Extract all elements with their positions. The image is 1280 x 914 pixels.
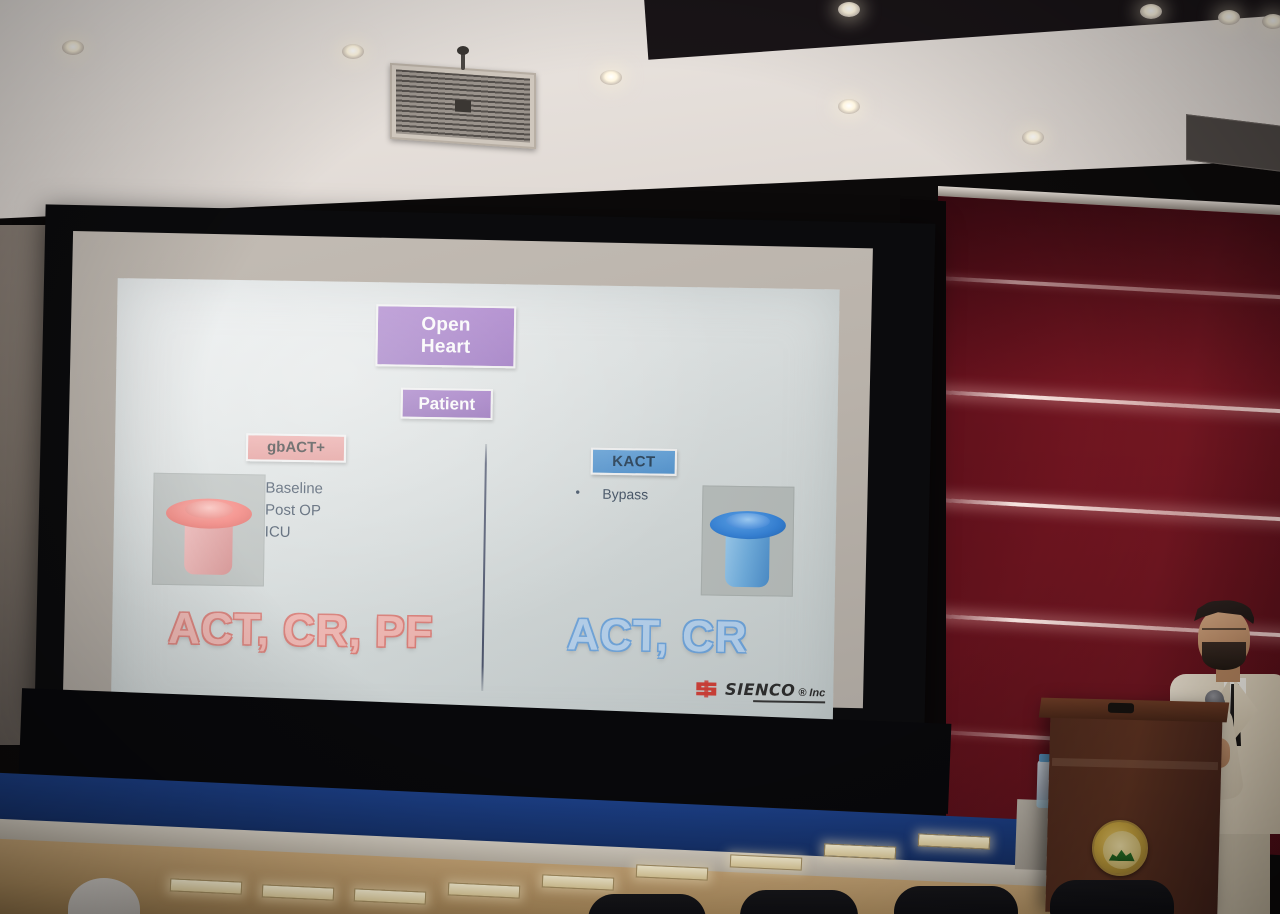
podium-emblem-inner: [1102, 831, 1141, 870]
sienco-registered-mark: ®: [798, 687, 806, 699]
column-divider: [481, 444, 487, 691]
projection-screen-frame: Open Heart Patient gbACT+ Baseline Post …: [35, 204, 936, 733]
cuvette-body-blue: [725, 531, 770, 588]
kact-result-label: ACT, CR: [567, 610, 748, 663]
ceiling-downlight: [838, 99, 860, 114]
patient-box: Patient: [401, 388, 493, 420]
sienco-mark-icon: [694, 679, 720, 698]
speaker-beard: [1202, 642, 1246, 670]
audience-chair: [588, 894, 706, 914]
kact-product-photo: [701, 485, 795, 596]
ceiling-downlight: [342, 44, 364, 59]
sienco-inc-suffix: Inc: [809, 687, 825, 699]
glasses-icon: [1202, 628, 1246, 637]
projection-screen-surface: Open Heart Patient gbACT+ Baseline Post …: [63, 231, 873, 708]
sienco-wordmark: SIENCO: [725, 680, 795, 700]
sienco-underline: [753, 700, 825, 703]
gbact-title-box: gbACT+: [246, 433, 346, 463]
gbact-product-photo: [152, 473, 266, 587]
audience-chair: [740, 890, 858, 914]
ceiling-air-diffuser-icon: [390, 63, 536, 149]
gbact-result-label: ACT, CR, PF: [168, 604, 434, 658]
podium-emblem-crest: [1109, 847, 1135, 862]
sienco-logo: SIENCO ® Inc: [694, 679, 825, 700]
ceiling-downlight: [1140, 4, 1162, 19]
diffuser-knob: [457, 46, 469, 55]
diffuser-core: [455, 99, 471, 112]
open-heart-box: Open Heart: [375, 304, 516, 368]
kact-title-box: KACT: [591, 448, 677, 476]
ceiling-downlight: [1218, 10, 1240, 25]
podium-microphone-base: [1108, 703, 1134, 714]
list-item: Bypass: [575, 485, 648, 502]
ceiling-downlight: [1262, 14, 1280, 29]
ceiling-downlight: [600, 70, 622, 85]
presentation-slide: Open Heart Patient gbACT+ Baseline Post …: [111, 278, 840, 746]
ceiling-downlight: [1022, 130, 1044, 145]
ceiling-downlight: [838, 2, 860, 17]
open-heart-line1: Open: [421, 314, 471, 337]
auditorium-photo: Open Heart Patient gbACT+ Baseline Post …: [0, 0, 1280, 914]
ceiling-downlight: [62, 40, 84, 55]
ceiling: [0, 0, 1280, 220]
open-heart-line2: Heart: [421, 336, 471, 359]
audience-chair: [1050, 880, 1174, 914]
kact-bullet-list: Bypass: [575, 485, 648, 507]
audience-chair: [894, 886, 1018, 914]
